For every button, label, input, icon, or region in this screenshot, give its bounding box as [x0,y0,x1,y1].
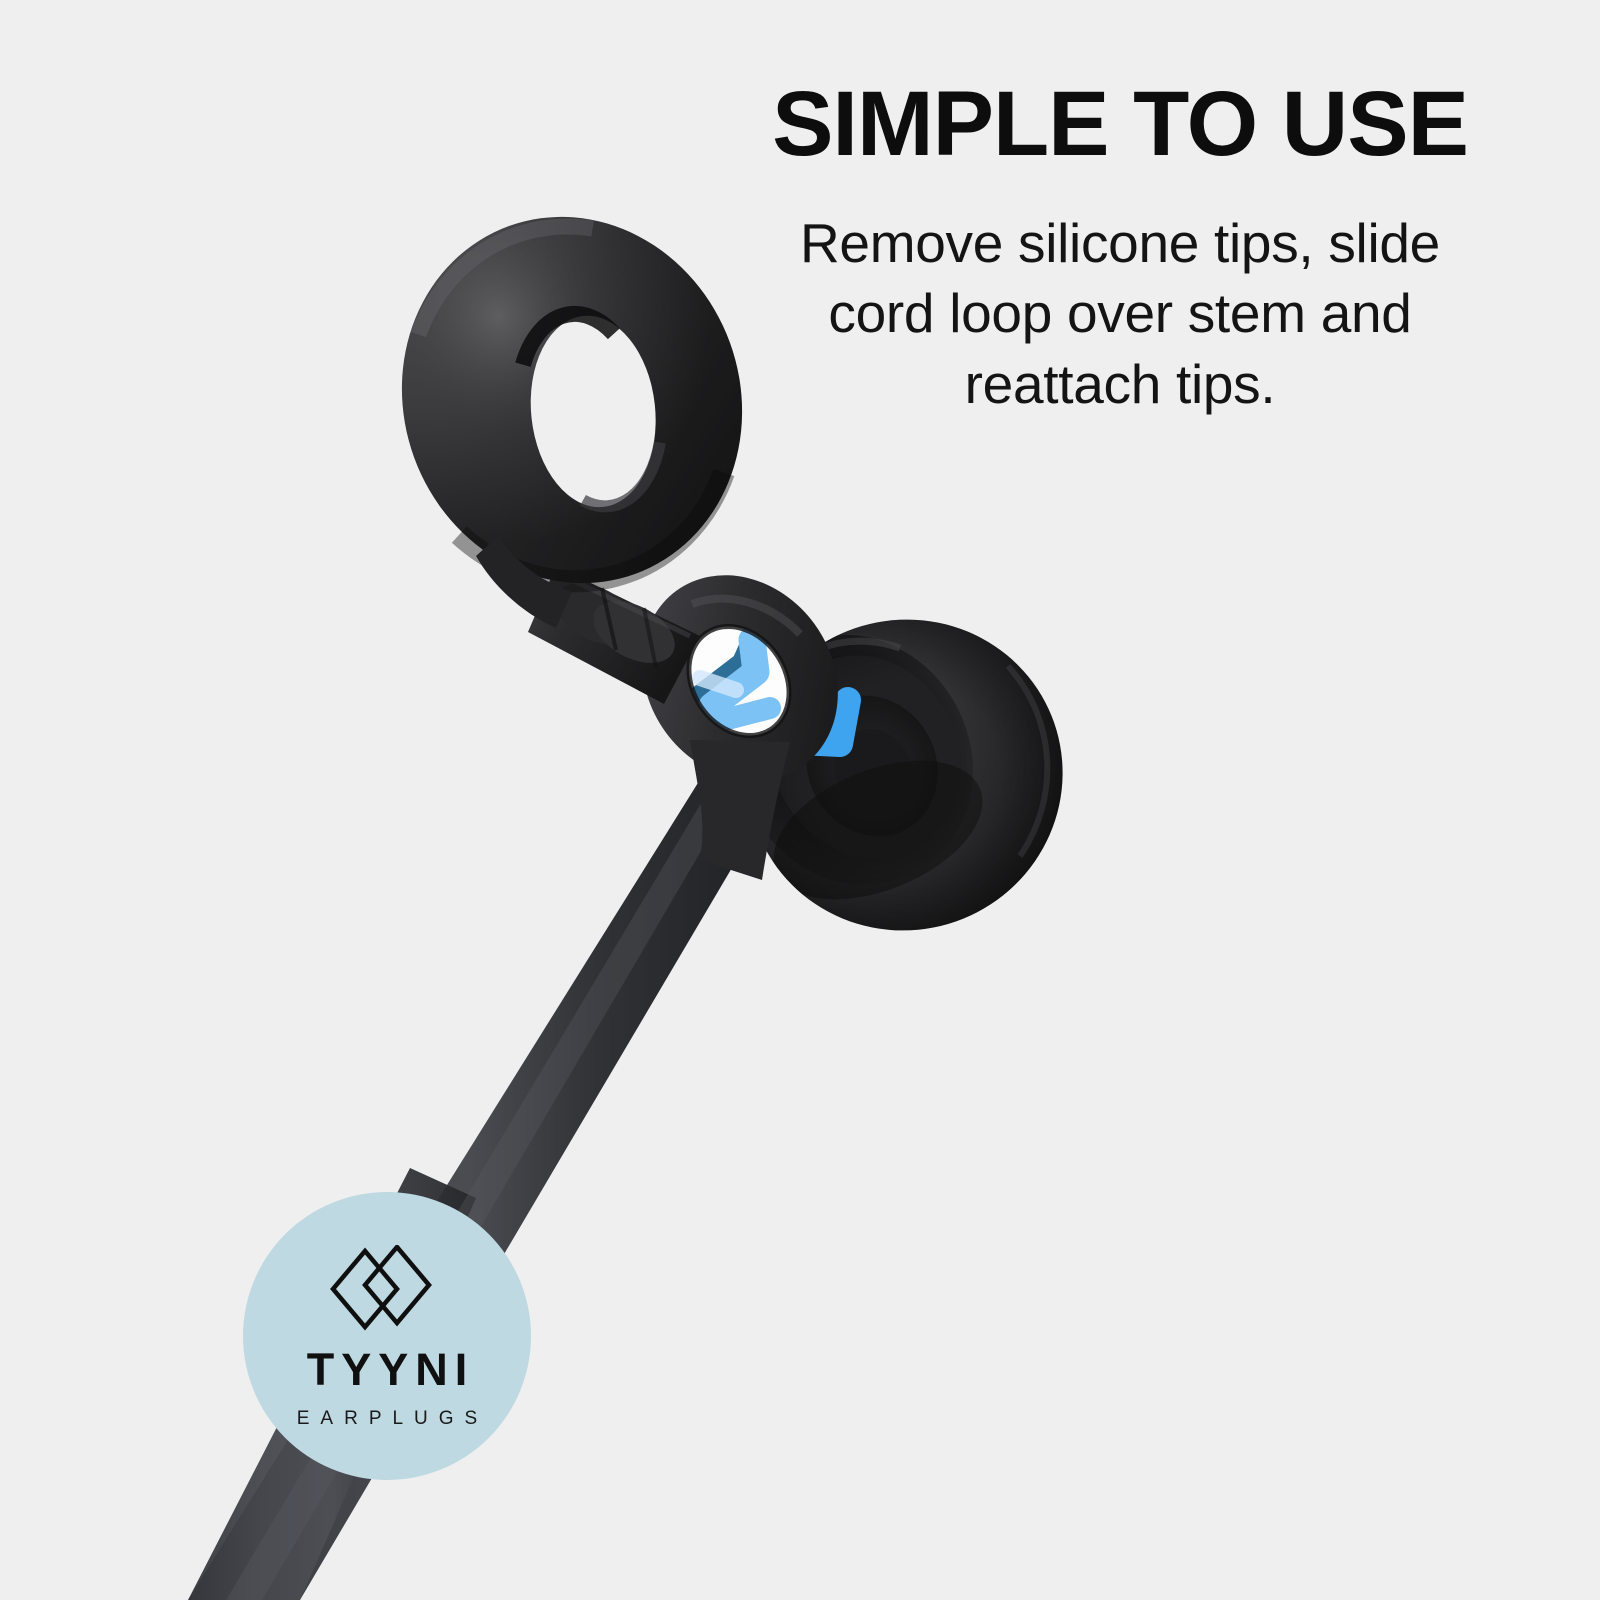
cord-loop-ring [351,169,793,632]
product-image-canvas: SIMPLE TO USE Remove silicone tips, slid… [0,0,1600,1600]
page-title: SIMPLE TO USE [760,78,1480,170]
brand-tagline: EARPLUGS [286,1409,488,1428]
double-diamond-logo-mark [327,1245,447,1333]
instruction-text: Remove silicone tips, slide cord loop ov… [760,208,1480,419]
logo-badge: TYYNI EARPLUGS [243,1192,531,1480]
brand-name: TYYNI [300,1347,475,1392]
neck-cord-strap [188,770,772,1600]
copy-block: SIMPLE TO USE Remove silicone tips, slid… [760,78,1480,419]
